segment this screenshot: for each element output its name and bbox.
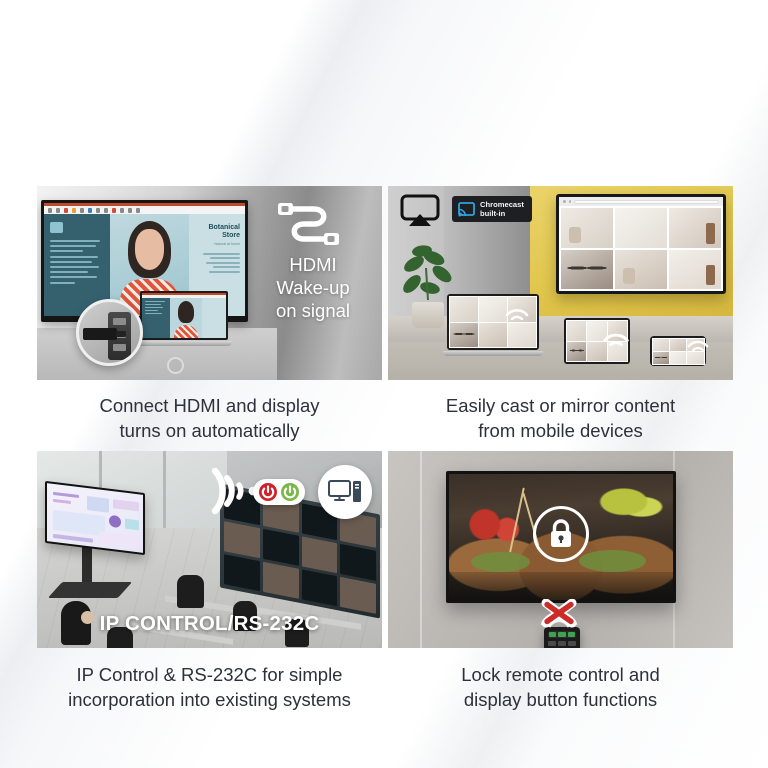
product-photo [615, 208, 667, 248]
caption-line-2: incorporation into existing systems [37, 688, 382, 713]
caption-hdmi-wake-up: Connect HDMI and display turns on automa… [37, 394, 382, 444]
page-subtitle: Essential features to streamline your op… [0, 103, 768, 128]
laptop-lid [140, 291, 228, 340]
feature-card-button-lock: Lock remote control and display button f… [388, 451, 733, 713]
remote-keypad [548, 641, 576, 648]
toolbar-icon [96, 208, 100, 213]
laptop-slide-brand [202, 298, 226, 338]
page-root: Simple Pro Settings Essential features t… [0, 0, 768, 768]
feature-card-hdmi-wake-up: Botanical Store Natural at home [37, 186, 382, 444]
chromecast-badge: Chromecast built-in [452, 196, 532, 222]
toolbar-icon [80, 208, 84, 213]
toolbar-icon [136, 208, 140, 213]
mirror-tile [508, 323, 536, 348]
desktop-computer-icon [328, 479, 362, 505]
ip-control-image: IP CONTROL/RS-232C [37, 451, 382, 648]
mirror-tile [653, 352, 669, 364]
product-photo-grid [559, 206, 723, 291]
caption-ip-control: IP Control & RS-232C for simple incorpor… [37, 663, 382, 713]
feature-card-ip-control: IP CONTROL/RS-232C IP Control & RS-232C … [37, 451, 382, 713]
caption-line-2: turns on automatically [37, 419, 382, 444]
panel4-wall-display [446, 471, 676, 603]
cast-signal-icon [504, 304, 530, 320]
browser-chrome [559, 197, 723, 206]
feature-card-cast-mirror: Chromecast built-in [388, 186, 733, 444]
slide-body-copy [50, 240, 104, 284]
mirror-tile [567, 342, 586, 362]
garnish [471, 552, 529, 572]
caption-line-1: Lock remote control and [388, 663, 733, 688]
toolbar-icon [64, 208, 68, 213]
mirror-tile [479, 297, 507, 322]
caption-button-lock: Lock remote control and display button f… [388, 663, 733, 713]
garnish [579, 550, 646, 573]
shelf-cubby [340, 577, 376, 614]
toolbar-icon [128, 208, 132, 213]
laptop-lid [447, 294, 539, 350]
toolbar-icon [72, 208, 76, 213]
toolbar-icon [120, 208, 124, 213]
panel4-food-content [449, 474, 673, 600]
mirror-tile [670, 352, 686, 364]
toolbar-icon [112, 208, 116, 213]
shelf-cubby [263, 562, 299, 599]
cast-mirror-image: Chromecast built-in [388, 186, 733, 380]
display-stand-base [48, 582, 132, 598]
hdmi-cable-icon [274, 198, 352, 250]
red-x-icon [536, 599, 582, 633]
overlay-line-1: HDMI [252, 254, 374, 277]
shelf-cubby [224, 521, 260, 558]
panel2-wall-display [556, 194, 726, 294]
browser-url-bar [574, 200, 719, 204]
mirror-tile [479, 323, 507, 348]
browser-dot [563, 200, 566, 203]
page-header: Simple Pro Settings Essential features t… [0, 0, 768, 127]
cast-signal-icon [601, 328, 631, 346]
shelf-cubby [263, 529, 299, 566]
panel2-display-screen [559, 197, 723, 291]
laptop-slide-text [142, 298, 170, 338]
panel3-dashboard-screen [47, 483, 143, 553]
product-photo [669, 250, 721, 290]
ip-control-overlay-label: IP CONTROL/RS-232C [37, 612, 382, 636]
laptop-slide-photo [170, 298, 203, 338]
power-state-badge [253, 479, 305, 505]
power-on-icon [280, 482, 300, 502]
panel1-app-toolbar [44, 203, 245, 214]
toolbar-icon [48, 208, 52, 213]
caption-line-1: Easily cast or mirror content [388, 394, 733, 419]
slide-brand-tagline: Natural at home [193, 242, 240, 246]
caption-line-2: display button functions [388, 688, 733, 713]
overlay-line-2: Wake-up [252, 277, 374, 300]
panel1-overlay: HDMI Wake-up on signal [252, 198, 374, 323]
lock-icon [548, 519, 574, 549]
caption-line-2: from mobile devices [388, 419, 733, 444]
product-photo-eyes [561, 250, 613, 290]
power-off-icon [258, 482, 278, 502]
mirror-tile [450, 297, 478, 322]
panel1-overlay-text: HDMI Wake-up on signal [252, 254, 374, 323]
shelf-cubby [340, 544, 376, 581]
product-photo [615, 250, 667, 290]
plant-pot [412, 302, 444, 328]
slide-logo-icon [50, 222, 63, 233]
caption-cast-mirror: Easily cast or mirror content from mobil… [388, 394, 733, 444]
mirror-tile [670, 339, 686, 351]
caption-line-1: Connect HDMI and display [37, 394, 382, 419]
browser-dot [569, 200, 572, 203]
panel1-laptop [136, 291, 232, 353]
hdmi-wake-up-image: Botanical Store Natural at home [37, 186, 382, 380]
slide-brand-copy [193, 253, 240, 273]
shelf-cubby [302, 569, 338, 606]
hdmi-plug [83, 328, 117, 340]
laptop-slide [142, 298, 226, 338]
shelf-cubby [302, 536, 338, 573]
mirror-tile [450, 323, 478, 348]
button-lock-image [388, 451, 733, 648]
toolbar-icon [56, 208, 60, 213]
product-photo [561, 208, 613, 248]
airplay-icon [399, 194, 441, 228]
feature-grid: Botanical Store Natural at home [37, 186, 732, 713]
chromecast-label-line1: Chromecast [480, 200, 524, 209]
mirror-tile [653, 339, 669, 351]
overlay-line-3: on signal [252, 300, 374, 323]
caption-line-1: IP Control & RS-232C for simple [37, 663, 382, 688]
mirror-tile [687, 352, 703, 364]
product-photo [669, 208, 721, 248]
toolbar-icon [88, 208, 92, 213]
mirror-tile [567, 321, 586, 341]
lock-badge [533, 506, 589, 562]
laptop-screen [142, 293, 226, 338]
panel1-dial [167, 357, 184, 374]
page-title: Simple Pro Settings [0, 40, 768, 88]
laptop-base [136, 341, 232, 346]
panel3-chair [177, 575, 204, 608]
woman-face [135, 229, 165, 270]
panel1-port-magnifier [76, 299, 143, 366]
shelf-cubby [224, 554, 260, 591]
chromecast-label-line2: built-in [480, 209, 524, 218]
chromecast-icon [458, 202, 475, 217]
toolbar-icon [104, 208, 108, 213]
panel3-display [45, 481, 145, 555]
cast-signal-icon [686, 336, 710, 351]
slide-brand-name: Botanical Store [193, 224, 240, 240]
laptop-base [443, 351, 543, 356]
computer-control-badge [318, 465, 372, 519]
wall-seam [420, 451, 422, 648]
chromecast-badge-text: Chromecast built-in [480, 200, 524, 218]
